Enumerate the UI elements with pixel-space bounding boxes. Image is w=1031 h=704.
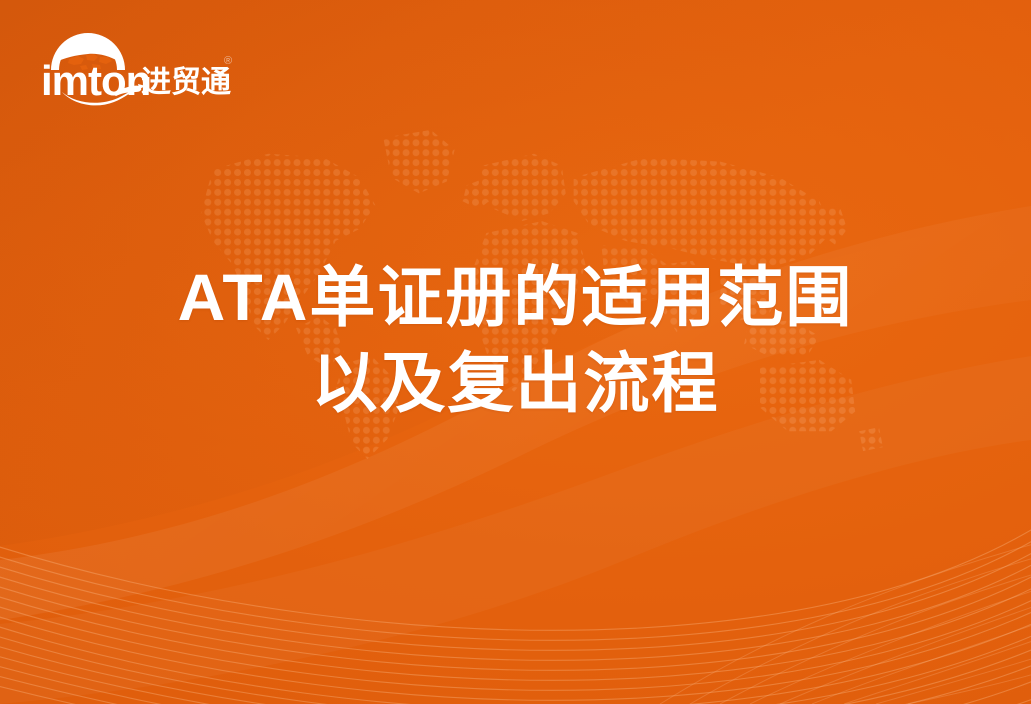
headline-block: ATA单证册的适用范围 以及复出流程 bbox=[0, 255, 1031, 427]
headline-line-2: 以及复出流程 bbox=[0, 341, 1031, 427]
logo-chinese-text: 进贸通 bbox=[141, 66, 231, 99]
brand-logo[interactable]: imton 进贸通 ® bbox=[38, 26, 238, 108]
promo-banner: imton 进贸通 ® ATA单证册的适用范围 以及复出流程 bbox=[0, 0, 1031, 704]
headline-line-1: ATA单证册的适用范围 bbox=[0, 255, 1031, 341]
logo-latin-text: imton bbox=[41, 57, 150, 104]
registered-mark-icon: ® bbox=[224, 55, 232, 67]
